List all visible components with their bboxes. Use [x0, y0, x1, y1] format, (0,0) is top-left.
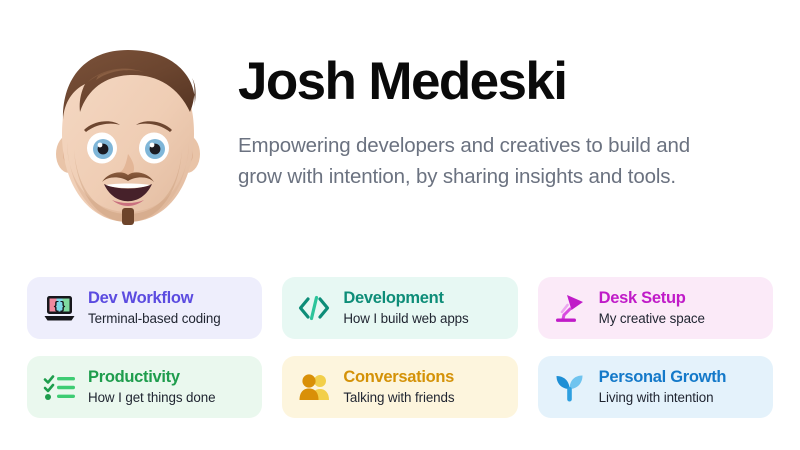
hero-section: Josh Medeski Empowering developers and c… [0, 0, 800, 262]
card-body: Conversations Talking with friends [343, 367, 454, 407]
page-title: Josh Medeski [238, 54, 772, 110]
card-subtitle: Terminal-based coding [88, 310, 221, 327]
page-tagline: Empowering developers and creatives to b… [238, 130, 708, 192]
profile-hero-page: Josh Medeski Empowering developers and c… [0, 0, 800, 450]
laptop-code-icon: {} [41, 290, 77, 326]
card-productivity[interactable]: Productivity How I get things done [27, 356, 262, 418]
category-card-grid: {} Dev Workflow Terminal-based coding De… [27, 277, 773, 418]
desk-lamp-icon [552, 290, 588, 326]
card-personal-growth[interactable]: Personal Growth Living with intention [538, 356, 773, 418]
card-desk-setup[interactable]: Desk Setup My creative space [538, 277, 773, 339]
card-subtitle: My creative space [599, 310, 705, 327]
card-subtitle: How I get things done [88, 389, 215, 406]
card-title: Personal Growth [599, 367, 727, 387]
card-body: Productivity How I get things done [88, 367, 215, 407]
checklist-icon [41, 369, 77, 405]
card-body: Personal Growth Living with intention [599, 367, 727, 407]
hero-text-block: Josh Medeski Empowering developers and c… [238, 38, 772, 192]
svg-text:{}: {} [52, 301, 65, 313]
avatar [44, 42, 212, 238]
card-dev-workflow[interactable]: {} Dev Workflow Terminal-based coding [27, 277, 262, 339]
card-title: Development [343, 288, 468, 308]
card-title: Conversations [343, 367, 454, 387]
card-body: Development How I build web apps [343, 288, 468, 328]
card-conversations[interactable]: Conversations Talking with friends [282, 356, 517, 418]
card-subtitle: Talking with friends [343, 389, 454, 406]
card-subtitle: Living with intention [599, 389, 727, 406]
two-people-icon [296, 369, 332, 405]
card-development[interactable]: Development How I build web apps [282, 277, 517, 339]
sprout-icon [552, 369, 588, 405]
code-brackets-icon [296, 290, 332, 326]
card-body: Dev Workflow Terminal-based coding [88, 288, 221, 328]
card-body: Desk Setup My creative space [599, 288, 705, 328]
card-title: Desk Setup [599, 288, 705, 308]
card-subtitle: How I build web apps [343, 310, 468, 327]
card-title: Dev Workflow [88, 288, 221, 308]
card-title: Productivity [88, 367, 215, 387]
